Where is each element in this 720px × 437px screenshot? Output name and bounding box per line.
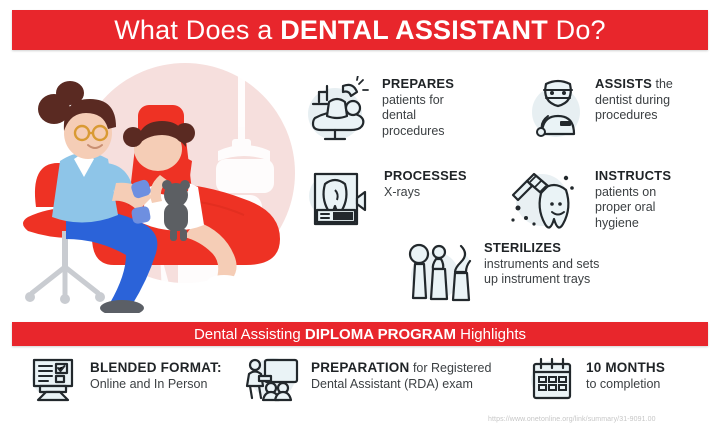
highlight-keyword: PREPARATION bbox=[311, 360, 409, 375]
highlight-text: BLENDED FORMAT: Online and In Person bbox=[90, 356, 222, 392]
highlight-line: Online and In Person bbox=[90, 377, 207, 391]
duty-instructs: INSTRUCTS patients on proper oral hygien… bbox=[508, 168, 671, 236]
duty-text: PROCESSES X-rays bbox=[384, 168, 467, 200]
duty-line: dentist during bbox=[595, 93, 670, 107]
duty-line: patients for bbox=[382, 93, 444, 107]
duty-keyword: PROCESSES bbox=[384, 168, 467, 183]
page-title: What Does a DENTAL ASSISTANT Do? bbox=[114, 15, 606, 46]
duty-line: instruments and sets bbox=[484, 257, 599, 271]
title-part-2: Do? bbox=[548, 15, 606, 45]
duty-text: PREPARES patients for dental procedures bbox=[382, 76, 454, 139]
header-banner: What Does a DENTAL ASSISTANT Do? bbox=[12, 10, 708, 50]
duty-text: ASSISTS the dentist during procedures bbox=[595, 76, 673, 124]
source-url[interactable]: https://www.onetonline.org/link/summary/… bbox=[488, 416, 656, 423]
hero-illustration bbox=[10, 55, 295, 313]
program-part-1: Dental Assisting bbox=[194, 326, 305, 343]
highlight-preparation: PREPARATION for Registered Dental Assist… bbox=[245, 356, 491, 404]
highlight-text: PREPARATION for Registered Dental Assist… bbox=[311, 356, 491, 392]
duty-sterilizes: STERILIZES instruments and sets up instr… bbox=[405, 240, 599, 306]
duty-keyword: PREPARES bbox=[382, 76, 454, 91]
highlight-line: Dental Assistant (RDA) exam bbox=[311, 377, 473, 391]
program-banner-text: Dental Assisting DIPLOMA PROGRAM Highlig… bbox=[194, 326, 526, 343]
highlight-keyword: BLENDED FORMAT: bbox=[90, 360, 222, 375]
title-part-1: What Does a bbox=[114, 15, 280, 45]
duty-processes: PROCESSES X-rays bbox=[305, 168, 467, 230]
calendar-icon bbox=[528, 356, 576, 404]
title-emphasis: DENTAL ASSISTANT bbox=[280, 15, 548, 45]
program-emphasis: DIPLOMA PROGRAM bbox=[305, 326, 456, 343]
dental-instruments-icon bbox=[405, 240, 475, 306]
dentist-person-icon bbox=[530, 76, 586, 142]
duty-assists: ASSISTS the dentist during procedures bbox=[530, 76, 673, 142]
duty-line: patients on bbox=[595, 185, 656, 199]
duty-line: up instrument trays bbox=[484, 272, 590, 286]
highlight-blended-format: BLENDED FORMAT: Online and In Person bbox=[28, 356, 222, 404]
highlight-keyword: 10 MONTHS bbox=[586, 360, 665, 375]
duty-line: dental bbox=[382, 108, 416, 122]
highlight-text: 10 MONTHS to completion bbox=[586, 356, 665, 392]
duty-keyword: ASSISTS bbox=[595, 76, 652, 91]
duty-text: INSTRUCTS patients on proper oral hygien… bbox=[595, 168, 671, 231]
infographic-page: What Does a DENTAL ASSISTANT Do? bbox=[0, 0, 720, 437]
dental-chair-icon bbox=[305, 76, 373, 146]
duty-prepares: PREPARES patients for dental procedures bbox=[305, 76, 454, 146]
highlight-line: to completion bbox=[586, 377, 660, 391]
duty-rest: the bbox=[652, 77, 673, 91]
duty-line: proper oral bbox=[595, 200, 655, 214]
xray-machine-icon bbox=[305, 168, 375, 230]
duty-keyword: INSTRUCTS bbox=[595, 168, 671, 183]
monitor-checklist-icon bbox=[28, 356, 80, 404]
duty-line: X-rays bbox=[384, 185, 420, 199]
instructor-whiteboard-icon bbox=[245, 356, 301, 404]
program-part-2: Highlights bbox=[456, 326, 526, 343]
duty-keyword: STERILIZES bbox=[484, 240, 561, 255]
dental-assistant-scene-icon bbox=[10, 55, 295, 313]
duty-line: procedures bbox=[595, 108, 658, 122]
toothbrush-tooth-icon bbox=[508, 168, 586, 236]
duty-line: procedures bbox=[382, 124, 445, 138]
duty-line: hygiene bbox=[595, 216, 639, 230]
highlight-rest: for Registered bbox=[409, 361, 491, 375]
duty-text: STERILIZES instruments and sets up instr… bbox=[484, 240, 599, 288]
program-banner: Dental Assisting DIPLOMA PROGRAM Highlig… bbox=[12, 322, 708, 346]
highlight-duration: 10 MONTHS to completion bbox=[528, 356, 665, 404]
